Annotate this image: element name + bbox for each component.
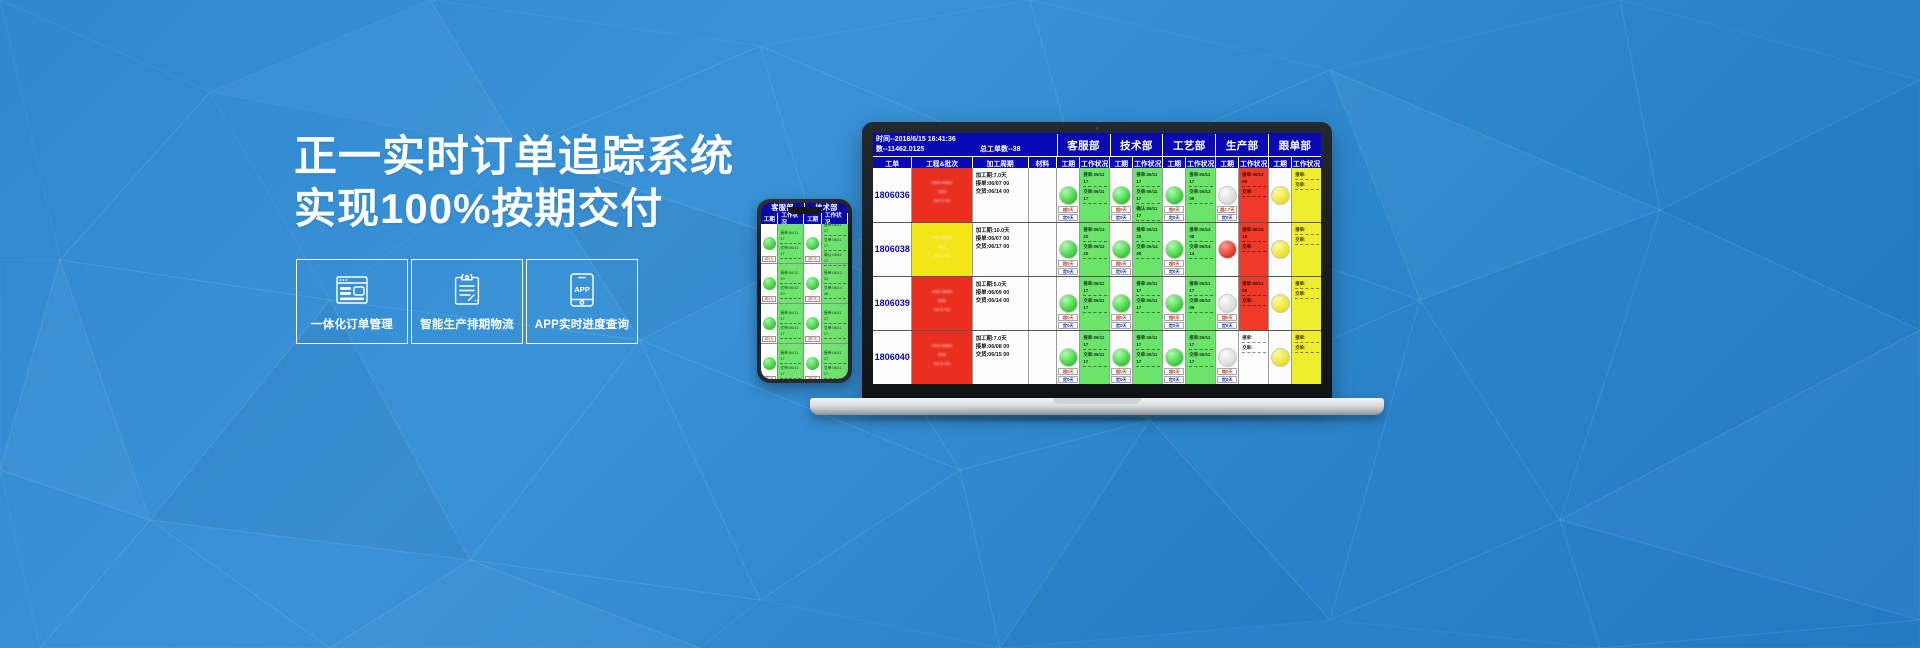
fixed-days-badge: 定0天 xyxy=(1164,268,1184,275)
status-indicator-green xyxy=(1059,294,1078,313)
phone-duration-column-2: 超0天超0天超0天超0天 xyxy=(804,224,821,379)
feature-item-production-scheduling[interactable]: 智能生产排期物流 xyxy=(411,259,523,344)
status-indicator-gray xyxy=(1218,294,1237,313)
duration-cell-1: 超0天定0天 xyxy=(1056,277,1079,330)
status-indicator-green xyxy=(805,276,820,291)
phone-status-cell: 接单:06/11 17交单:06/11 17 xyxy=(778,304,803,344)
phone-duration-column-1: 超0天超0天超0天超0天 xyxy=(761,224,778,379)
fixed-days-badge: 定0天 xyxy=(1058,322,1078,329)
status-indicator-green xyxy=(1059,348,1078,367)
duration-cell-1: 超0天定0天 xyxy=(1056,223,1079,276)
work-status-cell-2: 接单:06/11 17交单:06/11 17确认:06/11 17 xyxy=(1132,168,1162,222)
duration-cell-4: 超0天定0天 xyxy=(1215,277,1238,330)
fixed-days-badge: 定0天 xyxy=(1058,268,1078,275)
phone-status-text: 接单:06/12 20交单:06/12 20 xyxy=(778,268,803,300)
status-indicator-green xyxy=(1165,240,1184,259)
headline-line-2: 实现100%按期交付 xyxy=(294,183,714,234)
erp-col-cycle: 加工周期 xyxy=(972,156,1028,168)
duration-cell-4 xyxy=(1215,223,1238,276)
phone-duration-cell: 超0天 xyxy=(761,264,777,304)
fixed-days-badge: 定0天 xyxy=(1111,322,1131,329)
table-row[interactable]: 1806036■■■ ■■■■■■■■■ ■ ■■加工期:7.0天接单:06/0… xyxy=(873,168,1321,223)
phone-duration-cell: 超0天 xyxy=(761,304,777,344)
status-indicator-green xyxy=(762,316,777,331)
duration-cell-1: 超0天定0天 xyxy=(1056,331,1079,384)
erp-col-status-1: 工作状况 xyxy=(1079,156,1109,168)
erp-time-label: 时间-- xyxy=(876,136,895,143)
erp-dept-customer-service: 客服部 xyxy=(1057,134,1110,156)
overdue-badge: 超0天 xyxy=(805,256,819,262)
overdue-badge: 超0天 xyxy=(1164,314,1184,321)
erp-column-header: 工单工程&批次加工周期材料工期工作状况工期工作状况工期工作状况工期工作状况工期工… xyxy=(873,156,1321,168)
phone-notch xyxy=(788,207,822,214)
work-status-cell-2: 接单:06/12 20交单:06/14 08 xyxy=(1132,223,1162,276)
phone-duration-cell: 超0天 xyxy=(761,224,777,264)
phone-status-cell: 接单:06/11 17交单:06/11 17 xyxy=(778,224,803,264)
phone-status-cell: 接单:06/11 17交单:06/11 17 xyxy=(822,304,848,344)
overdue-badge: 超0天 xyxy=(1058,368,1078,375)
project-batch-cell: ■■■ ■■■■■■■■■ ■ ■■ xyxy=(911,168,971,222)
overdue-badge: 超0天 xyxy=(1164,206,1184,213)
order-number-cell: 1806038 xyxy=(873,223,911,276)
status-indicator-green xyxy=(1165,294,1184,313)
duration-cell-4: 超2.7天定0天 xyxy=(1215,168,1238,222)
phone-col-duration-2: 工期 xyxy=(804,213,821,224)
overdue-badge: 超0天 xyxy=(762,256,776,262)
erp-total-label: 总工单数-- xyxy=(980,146,1013,153)
work-status-cell-3: 接单:06/11 17交单:06/12 09 xyxy=(1185,277,1215,330)
overdue-badge: 超0天 xyxy=(1058,206,1078,213)
overdue-badge: 超0天 xyxy=(1111,206,1131,213)
status-indicator-gray xyxy=(1218,348,1237,367)
duration-cell-2: 超0天定0天 xyxy=(1109,168,1132,222)
phone-status-cell: 接单:06/11 17交单:06/11 17 xyxy=(822,344,848,379)
overdue-badge: 超0天 xyxy=(1111,260,1131,267)
phone-status-cell: 接单:06/12 20交单:06/12 20 xyxy=(778,264,803,304)
phone-status-cell: 接单:06/11 17交单:06/11 17 xyxy=(778,344,803,379)
work-status-cell-1: 接单:06/12 20交单:06/12 20 xyxy=(1079,223,1109,276)
status-indicator-green xyxy=(1165,186,1184,205)
erp-count-value: 11462.0125 xyxy=(888,146,925,153)
work-status-cell-4: 接单:交单: xyxy=(1238,331,1268,384)
duration-cell-5 xyxy=(1268,223,1291,276)
overdue-badge: 超0天 xyxy=(1058,260,1078,267)
feature-label: 智能生产排期物流 xyxy=(420,316,514,332)
work-status-cell-3: 接单:06/14 08交单:06/14 14 xyxy=(1185,223,1215,276)
redacted-project-text: ■■■ ■■■■■■■■■ ■ ■■ xyxy=(917,287,967,314)
dashboard-layout-icon xyxy=(336,271,368,309)
phone-status-cell: 接单:06/12 20交单:06/14 08 xyxy=(822,264,848,304)
overdue-badge: 超0天 xyxy=(1111,368,1131,375)
fixed-days-badge: 定0天 xyxy=(1217,214,1237,221)
fixed-days-badge: 定0天 xyxy=(1217,322,1237,329)
status-indicator-green xyxy=(1059,186,1078,205)
phone-col-status-1: 工作状况 xyxy=(778,213,804,224)
phone-status-text: 接单:06/11 17交单:06/11 17 xyxy=(778,228,803,260)
erp-col-status-4: 工作状况 xyxy=(1238,156,1268,168)
duration-cell-3: 超0天定0天 xyxy=(1162,223,1185,276)
fixed-days-badge: 定0天 xyxy=(1111,268,1131,275)
erp-col-project: 工程&批次 xyxy=(911,156,971,168)
material-cell xyxy=(1028,331,1057,384)
phone-status-text: 接单:06/12 20交单:06/14 08 xyxy=(822,268,848,300)
work-status-cell-5: 接单:交单: xyxy=(1291,331,1321,384)
duration-cell-3: 超0天定0天 xyxy=(1162,331,1185,384)
fixed-days-badge: 定0天 xyxy=(1058,214,1078,221)
feature-item-order-management[interactable]: 一体化订单管理 xyxy=(296,259,408,344)
clipboard-pencil-icon xyxy=(453,271,481,309)
duration-cell-2: 超0天定0天 xyxy=(1109,223,1132,276)
erp-col-duration-2: 工期 xyxy=(1109,156,1132,168)
webcam-icon xyxy=(1096,127,1099,130)
overdue-badge: 超0天 xyxy=(762,336,776,342)
feature-item-app-tracking[interactable]: APP APP实时进度查询 xyxy=(526,259,638,344)
laptop-mockup: 时间--2018/6/15 16:41:36 数--11462.0125 总工单… xyxy=(862,122,1332,422)
overdue-badge: 超0天 xyxy=(1217,368,1237,375)
work-status-cell-5: 接单:交单: xyxy=(1291,277,1321,330)
work-status-cell-2: 接单:06/11 17交单:06/11 17 xyxy=(1132,277,1162,330)
redacted-project-text: ■■■ ■■■■■■■■■ ■ ■■ xyxy=(917,341,967,368)
status-indicator-yellow xyxy=(1271,186,1290,205)
laptop-screen[interactable]: 时间--2018/6/15 16:41:36 数--11462.0125 总工单… xyxy=(873,133,1321,384)
work-status-cell-4: 接单:06/15 16交单: xyxy=(1238,223,1268,276)
feature-label: 一体化订单管理 xyxy=(311,316,393,332)
feature-label: APP实时进度查询 xyxy=(535,316,629,332)
processing-cycle-cell: 加工期:7.0天接单:06/08 00交货:06/15 00 xyxy=(972,331,1028,384)
status-indicator-green xyxy=(805,236,820,251)
phone-status-text: 接单:06/11 17交单:06/11 17 xyxy=(822,308,848,340)
erp-meta: 时间--2018/6/15 16:41:36 数--11462.0125 总工单… xyxy=(873,134,1057,156)
overdue-badge: 超0天 xyxy=(805,376,819,379)
phone-duration-cell: 超0天 xyxy=(804,264,820,304)
overdue-badge: 超2.7天 xyxy=(1217,206,1237,213)
erp-dept-row: 客服部 技术部 工艺部 生产部 跟单部 xyxy=(1057,134,1321,156)
fixed-days-badge: 定0天 xyxy=(1111,214,1131,221)
phone-status-text: 接单:06/11 17交单:06/11 17 xyxy=(778,308,803,340)
work-status-cell-5: 接单:交单: xyxy=(1291,168,1321,222)
status-indicator-yellow xyxy=(1271,348,1290,367)
laptop-lid: 时间--2018/6/15 16:41:36 数--11462.0125 总工单… xyxy=(862,122,1332,400)
fixed-days-badge: 定0天 xyxy=(1164,322,1184,329)
project-batch-cell: ■■■ ■■■■■■■■■ ■ ■■ xyxy=(911,331,971,384)
erp-col-duration-4: 工期 xyxy=(1215,156,1238,168)
duration-cell-3: 超0天定0天 xyxy=(1162,277,1185,330)
order-number-cell: 1806039 xyxy=(873,277,911,330)
status-indicator-green xyxy=(1112,240,1131,259)
processing-cycle-cell: 加工期:10.0天接单:06/07 00交货:06/17 00 xyxy=(972,223,1028,276)
overdue-badge: 超0天 xyxy=(1058,314,1078,321)
mobile-app-icon: APP xyxy=(570,271,594,309)
erp-dashboard: 时间--2018/6/15 16:41:36 数--11462.0125 总工单… xyxy=(873,133,1321,384)
status-indicator-yellow xyxy=(1271,240,1290,259)
duration-cell-5 xyxy=(1268,277,1291,330)
status-indicator-green xyxy=(762,356,777,371)
overdue-badge: 超0天 xyxy=(805,336,819,342)
work-status-cell-2: 接单:06/11 17交单:06/11 17 xyxy=(1132,331,1162,384)
overdue-badge: 超0天 xyxy=(1164,260,1184,267)
table-row[interactable]: 1806040■■■ ■■■■■■■■■ ■ ■■加工期:7.0天接单:06/0… xyxy=(873,331,1321,384)
table-row[interactable]: 1806039■■■ ■■■■■■■■■ ■ ■■加工期:5.0天接单:06/0… xyxy=(873,277,1321,331)
erp-col-duration-1: 工期 xyxy=(1056,156,1079,168)
status-indicator-green xyxy=(1112,186,1131,205)
erp-col-material: 材料 xyxy=(1028,156,1057,168)
status-indicator-green xyxy=(805,316,820,331)
work-status-cell-1: 接单:06/11 17交单:06/11 17 xyxy=(1079,168,1109,222)
phone-status-text: 接单:06/11 17交单:06/11 17 xyxy=(778,348,803,380)
status-indicator-green xyxy=(1112,348,1131,367)
order-number-cell: 1806036 xyxy=(873,168,911,222)
overdue-badge: 超0天 xyxy=(1111,314,1131,321)
erp-total-value: 38 xyxy=(1013,146,1021,153)
phone-duration-cell: 超0天 xyxy=(804,224,820,264)
erp-table-body: 1806036■■■ ■■■■■■■■■ ■ ■■加工期:7.0天接单:06/0… xyxy=(873,168,1321,384)
status-indicator-green xyxy=(1059,240,1078,259)
status-indicator-gray xyxy=(1218,186,1237,205)
processing-cycle-cell: 加工期:7.0天接单:06/07 00交货:06/14 00 xyxy=(972,168,1028,222)
phone-duration-cell: 超0天 xyxy=(804,344,820,379)
erp-count-label: 数-- xyxy=(876,146,888,153)
fixed-days-badge: 定0天 xyxy=(1217,376,1237,383)
app-badge-text: APP xyxy=(574,285,590,294)
overdue-badge: 超0天 xyxy=(1217,314,1237,321)
phone-grid-body: 超0天超0天超0天超0天 接单:06/11 17交单:06/11 17接单:06… xyxy=(761,224,848,379)
phone-duration-cell: 超0天 xyxy=(761,344,777,379)
fixed-days-badge: 定0天 xyxy=(1164,214,1184,221)
status-indicator-green xyxy=(1112,294,1131,313)
erp-header: 时间--2018/6/15 16:41:36 数--11462.0125 总工单… xyxy=(873,133,1321,156)
laptop-shadow xyxy=(796,414,1398,423)
status-indicator-green xyxy=(762,236,777,251)
duration-cell-5 xyxy=(1268,331,1291,384)
erp-dept-technology: 技术部 xyxy=(1110,134,1163,156)
work-status-cell-1: 接单:06/11 17交单:06/11 17 xyxy=(1079,277,1109,330)
material-cell xyxy=(1028,168,1057,222)
smartphone-mockup: 客服部 技术部 工期 工作状况 工期 工作状况 超0天超0天超0天超0天 接单:… xyxy=(757,199,852,383)
feature-list: 一体化订单管理 智能生产排期物流 APP xyxy=(296,259,638,344)
project-batch-cell: ■■■ ■■■■■■■■■ ■ ■■ xyxy=(911,277,971,330)
table-row[interactable]: 1806038■■■ ■■■■■■■■■ ■ ■■加工期:10.0天接单:06/… xyxy=(873,223,1321,277)
order-number-cell: 1806040 xyxy=(873,331,911,384)
phone-duration-cell: 超0天 xyxy=(804,304,820,344)
erp-col-status-2: 工作状况 xyxy=(1132,156,1162,168)
overdue-badge: 超0天 xyxy=(762,376,776,379)
work-status-cell-3: 接单:06/11 17交单:06/12 09 xyxy=(1185,168,1215,222)
phone-status-text: 接单:06/11 17交单:06/11 17 xyxy=(822,348,848,380)
duration-cell-1: 超0天定0天 xyxy=(1056,168,1079,222)
erp-dept-production: 生产部 xyxy=(1215,134,1268,156)
phone-erp-grid: 客服部 技术部 工期 工作状况 工期 工作状况 超0天超0天超0天超0天 接单:… xyxy=(761,203,848,379)
status-indicator-green xyxy=(762,276,777,291)
overdue-badge: 超0天 xyxy=(805,296,819,302)
erp-col-status-5: 工作状况 xyxy=(1291,156,1321,168)
hero-copy: 正一实时订单追踪系统 实现100%按期交付 xyxy=(294,132,714,234)
material-cell xyxy=(1028,223,1057,276)
redacted-project-text: ■■■ ■■■■■■■■■ ■ ■■ xyxy=(917,233,967,260)
erp-col-status-3: 工作状况 xyxy=(1185,156,1215,168)
processing-cycle-cell: 加工期:5.0天接单:06/09 00交货:06/14 00 xyxy=(972,277,1028,330)
fixed-days-badge: 定0天 xyxy=(1058,376,1078,383)
phone-screen[interactable]: 客服部 技术部 工期 工作状况 工期 工作状况 超0天超0天超0天超0天 接单:… xyxy=(761,203,848,379)
work-status-cell-4: 接单:06/12 09交单: xyxy=(1238,168,1268,222)
status-indicator-green xyxy=(1165,348,1184,367)
headline-line-1: 正一实时订单追踪系统 xyxy=(294,132,714,183)
erp-dept-process: 工艺部 xyxy=(1162,134,1215,156)
fixed-days-badge: 定0天 xyxy=(1164,376,1184,383)
phone-status-cell: 接单:06/11 17交单:06/11 17确认:06/11 17 xyxy=(822,224,848,264)
fixed-days-badge: 定0天 xyxy=(1111,376,1131,383)
duration-cell-3: 超0天定0天 xyxy=(1162,168,1185,222)
overdue-badge: 超0天 xyxy=(1164,368,1184,375)
duration-cell-5 xyxy=(1268,168,1291,222)
duration-cell-2: 超0天定0天 xyxy=(1109,277,1132,330)
phone-status-column-1: 接单:06/11 17交单:06/11 17接单:06/12 20交单:06/1… xyxy=(778,224,804,379)
erp-dept-order-follow: 跟单部 xyxy=(1268,134,1321,156)
redacted-project-text: ■■■ ■■■■■■■■■ ■ ■■ xyxy=(917,178,967,205)
status-indicator-yellow xyxy=(1271,294,1290,313)
phone-status-text: 接单:06/11 17交单:06/11 17确认:06/11 17 xyxy=(822,220,848,267)
material-cell xyxy=(1028,277,1057,330)
phone-status-column-2: 接单:06/11 17交单:06/11 17确认:06/11 17接单:06/1… xyxy=(822,224,848,379)
phone-body: 客服部 技术部 工期 工作状况 工期 工作状况 超0天超0天超0天超0天 接单:… xyxy=(757,199,852,383)
erp-col-duration-3: 工期 xyxy=(1162,156,1185,168)
work-status-cell-3: 接单:06/11 17交单:06/11 17 xyxy=(1185,331,1215,384)
erp-col-order: 工单 xyxy=(873,156,911,168)
work-status-cell-1: 接单:06/11 17交单:06/11 17 xyxy=(1079,331,1109,384)
status-indicator-green xyxy=(805,356,820,371)
work-status-cell-4: 接单:06/12 09交单: xyxy=(1238,277,1268,330)
overdue-badge: 超0天 xyxy=(762,296,776,302)
duration-cell-2: 超0天定0天 xyxy=(1109,331,1132,384)
duration-cell-4: 超0天定0天 xyxy=(1215,331,1238,384)
status-indicator-red xyxy=(1218,240,1237,259)
erp-time-value: 2018/6/15 16:41:36 xyxy=(895,136,956,143)
project-batch-cell: ■■■ ■■■■■■■■■ ■ ■■ xyxy=(911,223,971,276)
erp-col-duration-5: 工期 xyxy=(1268,156,1291,168)
laptop-base xyxy=(810,398,1384,415)
work-status-cell-5: 接单:交单: xyxy=(1291,223,1321,276)
phone-col-duration-1: 工期 xyxy=(761,213,778,224)
